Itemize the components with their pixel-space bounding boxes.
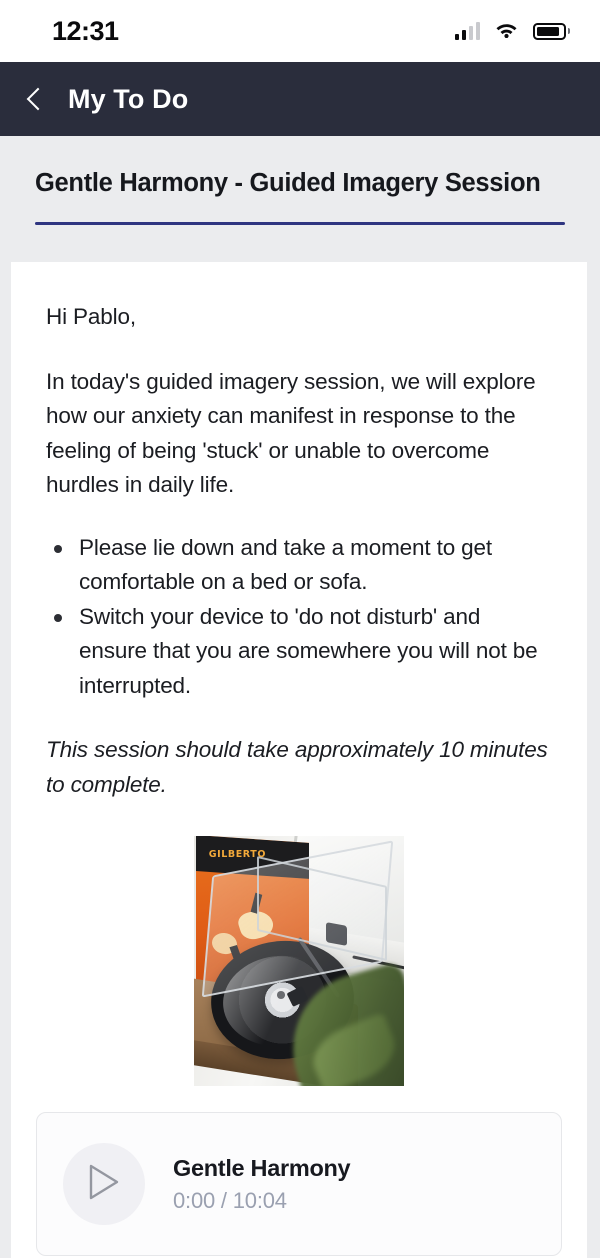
status-bar: 12:31: [0, 0, 600, 62]
instruction-list: Please lie down and take a moment to get…: [46, 531, 552, 704]
list-item: Please lie down and take a moment to get…: [46, 531, 552, 600]
track-title: Gentle Harmony: [173, 1155, 350, 1182]
app-root: 12:31 My To Do Gentle Harmony - Guide: [0, 0, 600, 1258]
track-meta: Gentle Harmony 0:00 / 10:04: [173, 1155, 350, 1214]
title-zone: Gentle Harmony - Guided Imagery Session: [0, 136, 600, 225]
turntable-record-player-photo: GILBERTO: [194, 836, 404, 1086]
duration-note: This session should take approximately 1…: [46, 733, 552, 802]
nav-title: My To Do: [68, 84, 188, 115]
battery-icon: [533, 23, 570, 40]
chevron-left-icon[interactable]: [27, 87, 50, 110]
wifi-icon: [494, 20, 519, 43]
content-card: Hi Pablo, In today's guided imagery sess…: [11, 262, 587, 1258]
intro-paragraph: In today's guided imagery session, we wi…: [46, 365, 552, 503]
status-bar-icons: [455, 20, 571, 43]
audio-player[interactable]: Gentle Harmony 0:00 / 10:04: [36, 1112, 562, 1256]
play-icon: [87, 1163, 121, 1206]
signal-bars-icon: [455, 22, 481, 40]
status-bar-time: 12:31: [52, 16, 119, 47]
title-underline: [35, 222, 565, 225]
play-button[interactable]: [63, 1143, 145, 1225]
greeting-text: Hi Pablo,: [46, 300, 552, 335]
page-title: Gentle Harmony - Guided Imagery Session: [35, 168, 565, 200]
nav-bar: My To Do: [0, 62, 600, 136]
photo-wrap: GILBERTO: [46, 836, 552, 1086]
list-item: Switch your device to 'do not disturb' a…: [46, 600, 552, 704]
track-time-display: 0:00 / 10:04: [173, 1188, 350, 1214]
